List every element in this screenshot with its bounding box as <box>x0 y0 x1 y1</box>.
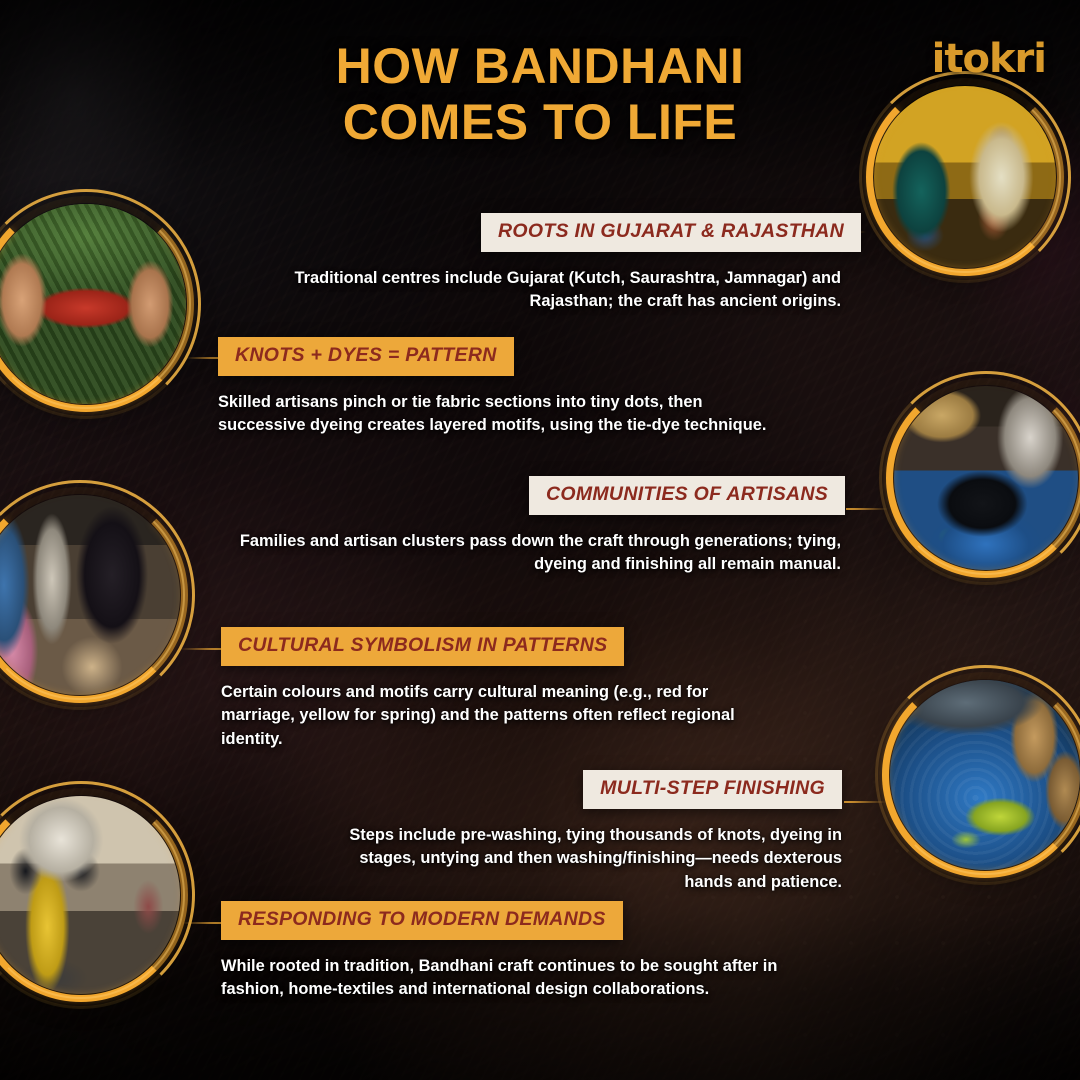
photo-disc <box>890 680 1080 870</box>
photo-dyer-lifting-yellow-cloth <box>0 788 188 1002</box>
section-heading-symbolism: CULTURAL SYMBOLISM IN PATTERNS <box>221 627 624 666</box>
photo-hands-tying-red-fabric <box>0 196 194 412</box>
section-communities: COMMUNITIES OF ARTISANS Families and art… <box>236 476 841 577</box>
section-heading-roots: ROOTS IN GUJARAT & RAJASTHAN <box>481 213 861 252</box>
photo-disc <box>0 495 180 695</box>
page-title: HOW BANDHANI COMES TO LIFE <box>160 38 920 150</box>
section-heading-finishing: MULTI-STEP FINISHING <box>583 770 842 809</box>
photo-image <box>0 495 180 695</box>
photo-image <box>894 386 1078 570</box>
section-finishing: MULTI-STEP FINISHING Steps include pre-w… <box>310 770 842 895</box>
section-symbolism: CULTURAL SYMBOLISM IN PATTERNS Certain c… <box>221 627 781 752</box>
connector-symbolism <box>180 648 224 650</box>
photo-disc <box>0 204 186 404</box>
section-body-symbolism: Certain colours and motifs carry cultura… <box>221 681 781 753</box>
section-heading-modern: RESPONDING TO MODERN DEMANDS <box>221 901 623 940</box>
section-body-modern: While rooted in tradition, Bandhani craf… <box>221 955 781 1003</box>
photo-image <box>890 680 1080 870</box>
photo-indigo-vat-dipping <box>882 672 1080 878</box>
section-heading-communities: COMMUNITIES OF ARTISANS <box>529 476 845 515</box>
brand-logo[interactable]: itokri <box>932 36 1046 82</box>
connector-communities <box>846 508 888 510</box>
photo-image <box>0 204 186 404</box>
section-heading-knots: KNOTS + DYES = PATTERN <box>218 337 514 376</box>
section-roots: ROOTS IN GUJARAT & RAJASTHAN Traditional… <box>256 213 841 314</box>
brand-logo-text: itokri <box>932 36 1046 82</box>
section-body-finishing: Steps include pre-washing, tying thousan… <box>310 824 842 896</box>
photo-dyer-blue-tub <box>886 378 1080 578</box>
photo-disc <box>0 796 180 994</box>
infographic-poster: HOW BANDHANI COMES TO LIFE itokri <box>0 0 1080 1080</box>
photo-image <box>0 796 180 994</box>
connector-modern <box>182 922 224 924</box>
section-body-roots: Traditional centres include Gujarat (Kut… <box>256 267 841 315</box>
photo-disc <box>894 386 1078 570</box>
photo-women-seated-tying <box>0 487 188 703</box>
section-body-communities: Families and artisan clusters pass down … <box>236 530 841 578</box>
connector-finishing <box>844 801 886 803</box>
section-modern: RESPONDING TO MODERN DEMANDS While roote… <box>221 901 781 1002</box>
section-body-knots: Skilled artisans pinch or tie fabric sec… <box>218 391 778 439</box>
section-knots: KNOTS + DYES = PATTERN Skilled artisans … <box>218 337 778 438</box>
